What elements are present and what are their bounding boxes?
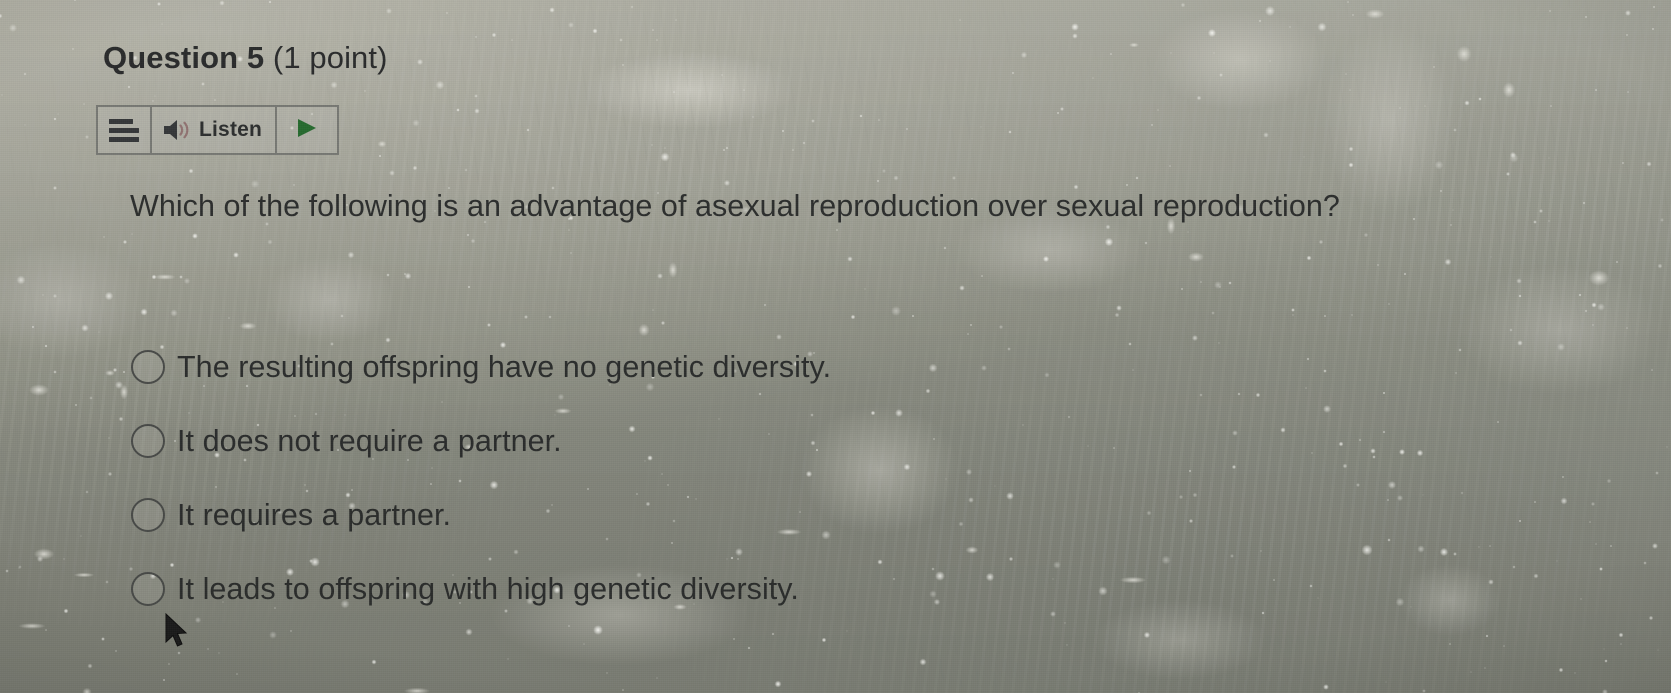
photographed-quiz-screen: Question 5 (1 point) Listen <box>0 0 1671 693</box>
listen-toolbar[interactable]: Listen <box>96 105 339 155</box>
answer-option-c-label: It requires a partner. <box>177 498 451 533</box>
answer-option-c[interactable]: It requires a partner. <box>131 478 1331 552</box>
question-points-label: (1 point) <box>264 40 387 75</box>
answer-option-d-label: It leads to offspring with high genetic … <box>177 572 799 607</box>
radio-button-a[interactable] <box>131 350 165 384</box>
radio-button-d[interactable] <box>131 572 165 606</box>
answer-option-b[interactable]: It does not require a partner. <box>131 404 1331 478</box>
quiz-content: Question 5 (1 point) Listen <box>0 0 1671 693</box>
play-button[interactable] <box>277 107 337 153</box>
answer-option-a[interactable]: The resulting offspring have no genetic … <box>131 330 1331 404</box>
question-text: Which of the following is an advantage o… <box>130 182 1345 231</box>
listen-button[interactable]: Listen <box>152 107 277 153</box>
speaker-sound-icon <box>162 118 192 142</box>
question-number-label: Question 5 <box>103 40 264 75</box>
play-triangle-icon <box>294 116 320 145</box>
answer-options-list: The resulting offspring have no genetic … <box>131 330 1331 626</box>
radio-button-b[interactable] <box>131 424 165 458</box>
toolbar-menu-button[interactable] <box>98 107 152 153</box>
radio-button-c[interactable] <box>131 498 165 532</box>
listen-button-label: Listen <box>199 118 262 142</box>
answer-option-b-label: It does not require a partner. <box>177 424 562 459</box>
page-title: Question 5 (1 point) <box>103 40 388 76</box>
hamburger-menu-icon <box>109 119 139 142</box>
answer-option-d[interactable]: It leads to offspring with high genetic … <box>131 552 1331 626</box>
answer-option-a-label: The resulting offspring have no genetic … <box>177 350 831 385</box>
